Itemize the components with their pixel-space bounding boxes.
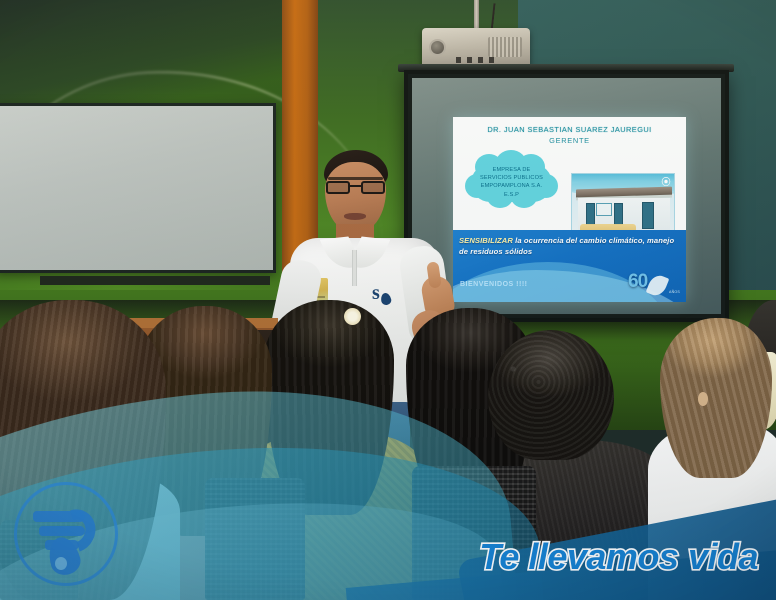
presentation-photo: DR. JUAN SEBASTIAN SUAREZ JAUREGUI GEREN… <box>0 0 776 600</box>
cloud-line-4: E.S.P <box>465 191 558 199</box>
cloud-line-2: SERVICIOS PUBLICOS <box>465 174 558 182</box>
cloud-line-1: EMPRESA DE <box>465 166 558 174</box>
cloud-line-3: EMPOPAMPLONA S.A. <box>465 182 558 190</box>
cloud-company-text: EMPRESA DE SERVICIOS PUBLICOS EMPOPAMPLO… <box>465 166 558 199</box>
color-grade <box>0 0 776 600</box>
